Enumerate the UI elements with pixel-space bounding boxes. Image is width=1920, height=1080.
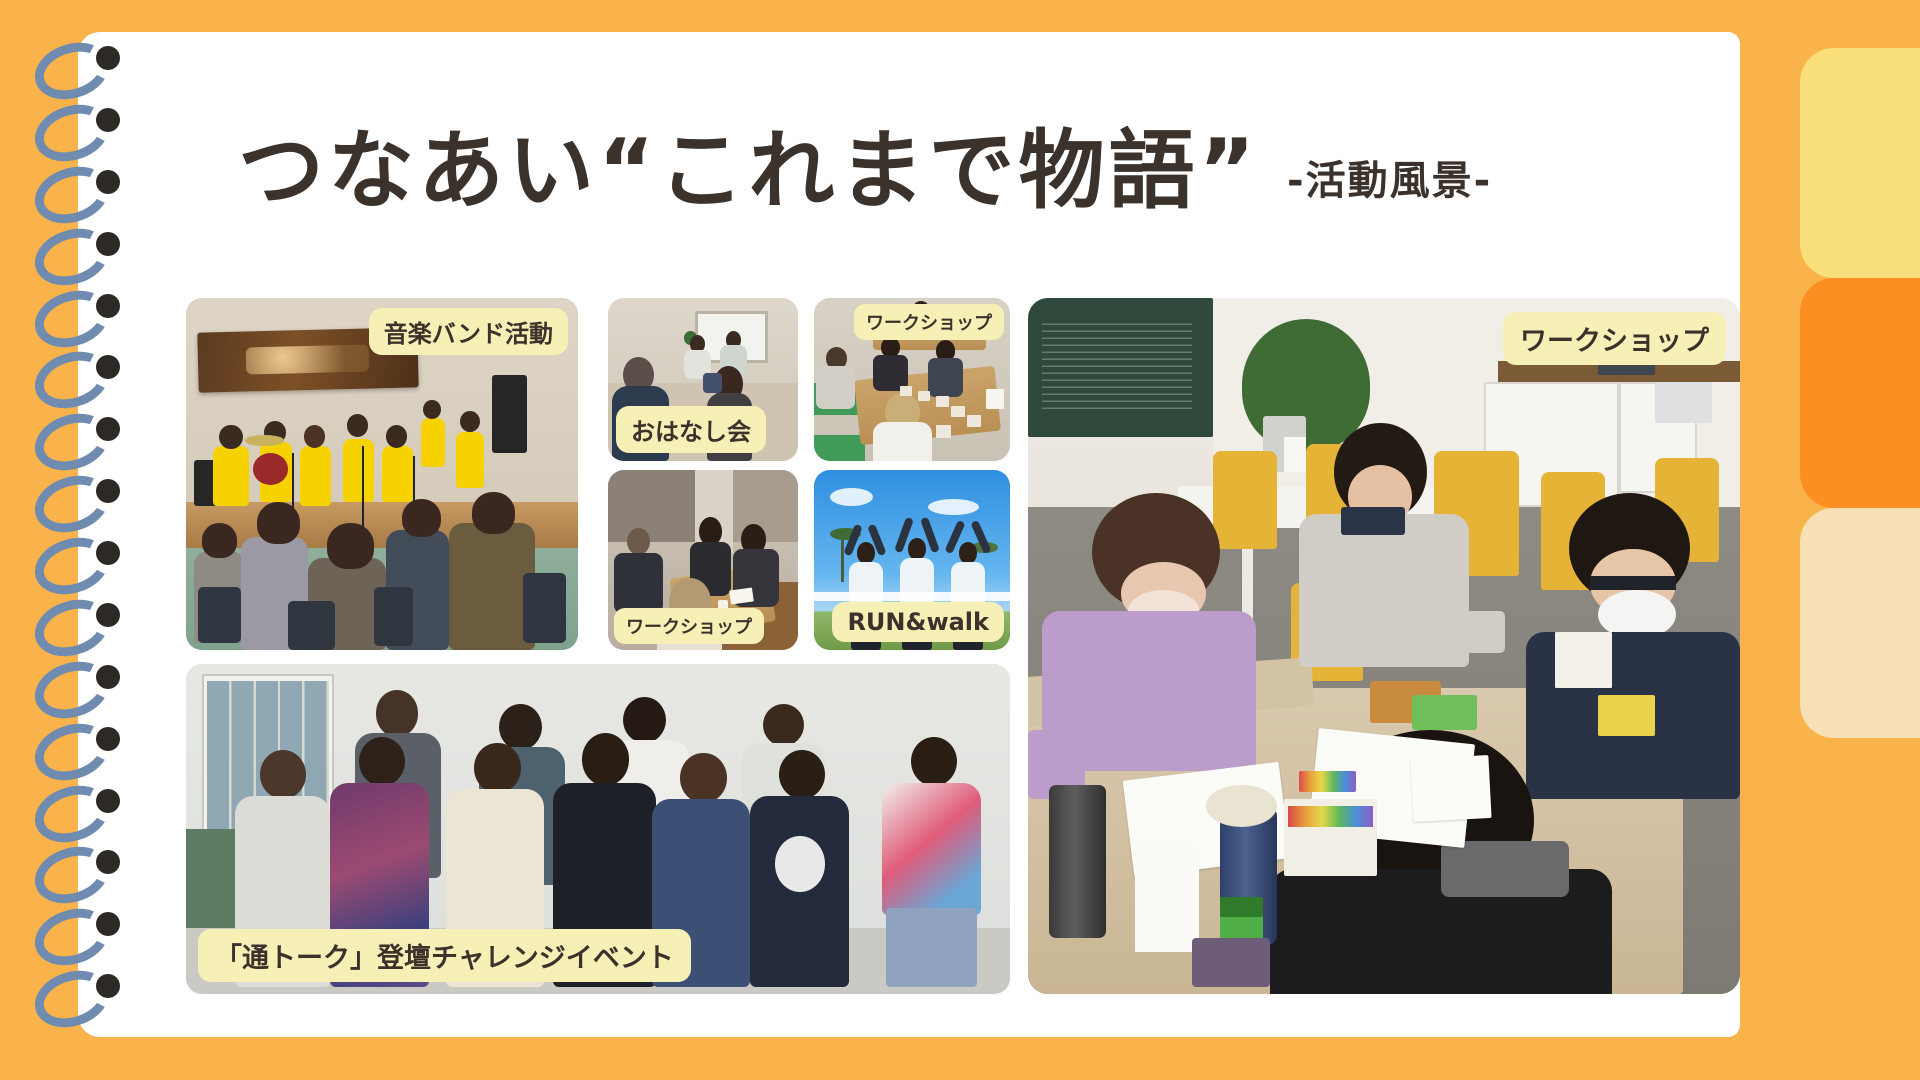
binding-ring xyxy=(34,539,120,597)
photo-tsu-talk-event[interactable]: 「通トーク」登壇チャレンジイベント xyxy=(186,664,1010,994)
binding-ring xyxy=(34,292,120,350)
binding-ring xyxy=(34,725,120,783)
photo-music-band[interactable]: 音楽バンド活動 xyxy=(186,298,578,650)
index-tab-2[interactable] xyxy=(1800,278,1920,508)
binding-ring-loop xyxy=(28,714,117,789)
binding-ring-loop xyxy=(28,529,117,604)
binding-ring xyxy=(34,663,120,721)
binding-ring-loop xyxy=(28,157,117,232)
binding-ring-loop xyxy=(28,838,117,913)
index-tab-3[interactable] xyxy=(1800,508,1920,738)
photo-caption: ワークショップ xyxy=(614,608,764,644)
binding-ring xyxy=(34,44,120,102)
binding-ring-cap xyxy=(96,108,120,132)
binding-ring-cap xyxy=(96,850,120,874)
binding-ring-loop xyxy=(28,900,117,975)
binding-ring xyxy=(34,415,120,473)
binding-ring-cap xyxy=(96,232,120,256)
index-tab-1[interactable] xyxy=(1800,48,1920,278)
photo-caption: ワークショップ xyxy=(854,304,1004,340)
binding-ring xyxy=(34,601,120,659)
binding-ring xyxy=(34,910,120,968)
binding-ring-loop xyxy=(28,776,117,851)
binding-ring-cap xyxy=(96,479,120,503)
photo-caption: おはなし会 xyxy=(616,406,766,453)
binding-ring xyxy=(34,106,120,164)
binding-ring-cap xyxy=(96,355,120,379)
slide-canvas: つなあい“これまで物語” -活動風景- xyxy=(0,0,1920,1080)
photo-workshop-big[interactable]: ワークショップ xyxy=(1028,298,1740,994)
binding-ring xyxy=(34,168,120,226)
binding-ring-loop xyxy=(28,219,117,294)
binding-ring-cap xyxy=(96,727,120,751)
binding-ring-loop xyxy=(28,590,117,665)
binding-ring-cap xyxy=(96,294,120,318)
binding-ring-cap xyxy=(96,417,120,441)
binding-ring xyxy=(34,848,120,906)
photo-caption: ワークショップ xyxy=(1503,312,1726,365)
photo-story-circle[interactable]: おはなし会 xyxy=(608,298,798,461)
binding-ring-loop xyxy=(28,652,117,727)
binding-ring xyxy=(34,477,120,535)
binding-ring-cap xyxy=(96,974,120,998)
binding-ring-cap xyxy=(96,46,120,70)
photo-workshop-cafe[interactable]: ワークショップ xyxy=(608,470,798,650)
binding-ring-loop xyxy=(28,962,117,1037)
binding-ring-loop xyxy=(28,34,117,109)
binding-ring xyxy=(34,353,120,411)
binding-ring xyxy=(34,787,120,845)
photo-workshop-table[interactable]: ワークショップ xyxy=(814,298,1010,461)
photo-caption: RUN&walk xyxy=(832,602,1004,642)
page-title: つなあい“これまで物語” xyxy=(238,128,1259,214)
binding-ring-cap xyxy=(96,170,120,194)
photo-run-and-walk[interactable]: RUN&walk xyxy=(814,470,1010,650)
binding-ring xyxy=(34,230,120,288)
binding-ring xyxy=(34,972,120,1030)
photo-caption: 音楽バンド活動 xyxy=(369,308,568,355)
binding-ring-loop xyxy=(28,343,117,418)
binding-ring-cap xyxy=(96,665,120,689)
binding-ring-cap xyxy=(96,541,120,565)
binding-ring-loop xyxy=(28,281,117,356)
page-subtitle: -活動風景- xyxy=(1287,148,1492,214)
photo-caption: 「通トーク」登壇チャレンジイベント xyxy=(198,929,691,982)
binding-ring-loop xyxy=(28,95,117,170)
binding-ring-cap xyxy=(96,912,120,936)
headline-block: つなあい“これまで物語” -活動風景- xyxy=(238,128,1492,214)
spiral-binding xyxy=(34,44,154,1034)
binding-ring-loop xyxy=(28,467,117,542)
binding-ring-loop xyxy=(28,405,117,480)
binding-ring-cap xyxy=(96,603,120,627)
binding-ring-cap xyxy=(96,789,120,813)
